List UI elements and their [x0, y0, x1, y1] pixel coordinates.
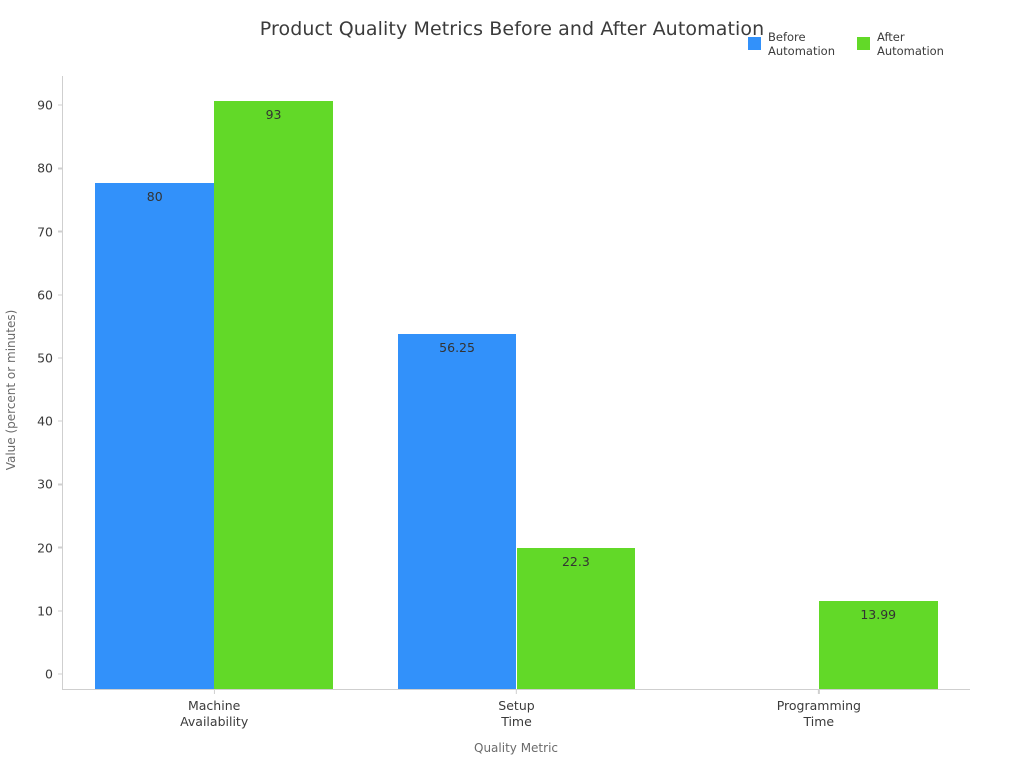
y-axis-tick-mark: [58, 673, 63, 674]
x-axis-tick-mark: [818, 689, 819, 694]
x-axis-tick-label: Programming Time: [777, 698, 861, 730]
x-axis-tick-mark: [516, 689, 517, 694]
x-axis-label: Quality Metric: [62, 741, 970, 755]
x-axis-tick: Machine Availability: [180, 689, 248, 730]
y-axis-tick-mark: [58, 105, 63, 106]
bar-before[interactable]: 80: [95, 183, 214, 689]
y-axis-tick: 30: [37, 477, 63, 492]
x-axis-tick-mark: [214, 689, 215, 694]
y-axis-tick-label: 0: [45, 667, 53, 682]
y-axis-tick-mark: [58, 357, 63, 358]
bar-value-label: 93: [214, 107, 333, 122]
legend-color-swatch-after: [857, 37, 870, 50]
legend-label-after: After Automation: [877, 30, 944, 58]
bar-value-label: 22.3: [517, 554, 636, 569]
legend-entry-after[interactable]: After Automation: [857, 30, 944, 58]
bar-after[interactable]: 93: [214, 101, 333, 689]
y-axis-tick-mark: [58, 168, 63, 169]
x-axis-tick: Setup Time: [498, 689, 534, 730]
y-axis-tick: 80: [37, 161, 63, 176]
y-axis-tick-label: 10: [37, 603, 53, 618]
legend-label-before: Before Automation: [768, 30, 835, 58]
y-axis-tick: 60: [37, 287, 63, 302]
y-axis-tick-label: 50: [37, 351, 53, 366]
legend-color-swatch-before: [748, 37, 761, 50]
y-axis-tick-mark: [58, 231, 63, 232]
x-axis-tick-label: Machine Availability: [180, 698, 248, 730]
y-axis-tick-mark: [58, 484, 63, 485]
y-axis-tick: 70: [37, 224, 63, 239]
bar-before[interactable]: 56.25: [398, 334, 517, 689]
y-axis-tick-mark: [58, 610, 63, 611]
bar-after[interactable]: 22.3: [517, 548, 636, 689]
y-axis-tick: 0: [45, 667, 63, 682]
y-axis-tick-mark: [58, 294, 63, 295]
x-axis-tick: Programming Time: [777, 689, 861, 730]
chart-figure: Product Quality Metrics Before and After…: [0, 0, 1024, 768]
y-axis-tick-label: 30: [37, 477, 53, 492]
bar-after[interactable]: 13.99: [819, 601, 938, 689]
y-axis-tick: 20: [37, 540, 63, 555]
legend-entry-before[interactable]: Before Automation: [748, 30, 835, 58]
y-axis-tick-label: 80: [37, 161, 53, 176]
y-axis-tick: 40: [37, 414, 63, 429]
x-axis-tick-label: Setup Time: [498, 698, 534, 730]
y-axis-label: Value (percent or minutes): [4, 290, 18, 490]
bar-value-label: 56.25: [398, 340, 517, 355]
y-axis-tick-label: 40: [37, 414, 53, 429]
y-axis-tick-label: 20: [37, 540, 53, 555]
y-axis-tick: 10: [37, 603, 63, 618]
y-axis-tick-mark: [58, 421, 63, 422]
chart-legend: Before Automation After Automation: [748, 30, 966, 58]
bar-value-label: 80: [95, 189, 214, 204]
y-axis-tick-label: 90: [37, 98, 53, 113]
plot-area: 0102030405060708090 Machine Availability…: [62, 76, 970, 690]
bar-value-label: 13.99: [819, 607, 938, 622]
y-axis-tick-label: 70: [37, 224, 53, 239]
y-axis-tick: 50: [37, 351, 63, 366]
y-axis-tick: 90: [37, 98, 63, 113]
y-axis-tick-mark: [58, 547, 63, 548]
y-axis-tick-label: 60: [37, 287, 53, 302]
